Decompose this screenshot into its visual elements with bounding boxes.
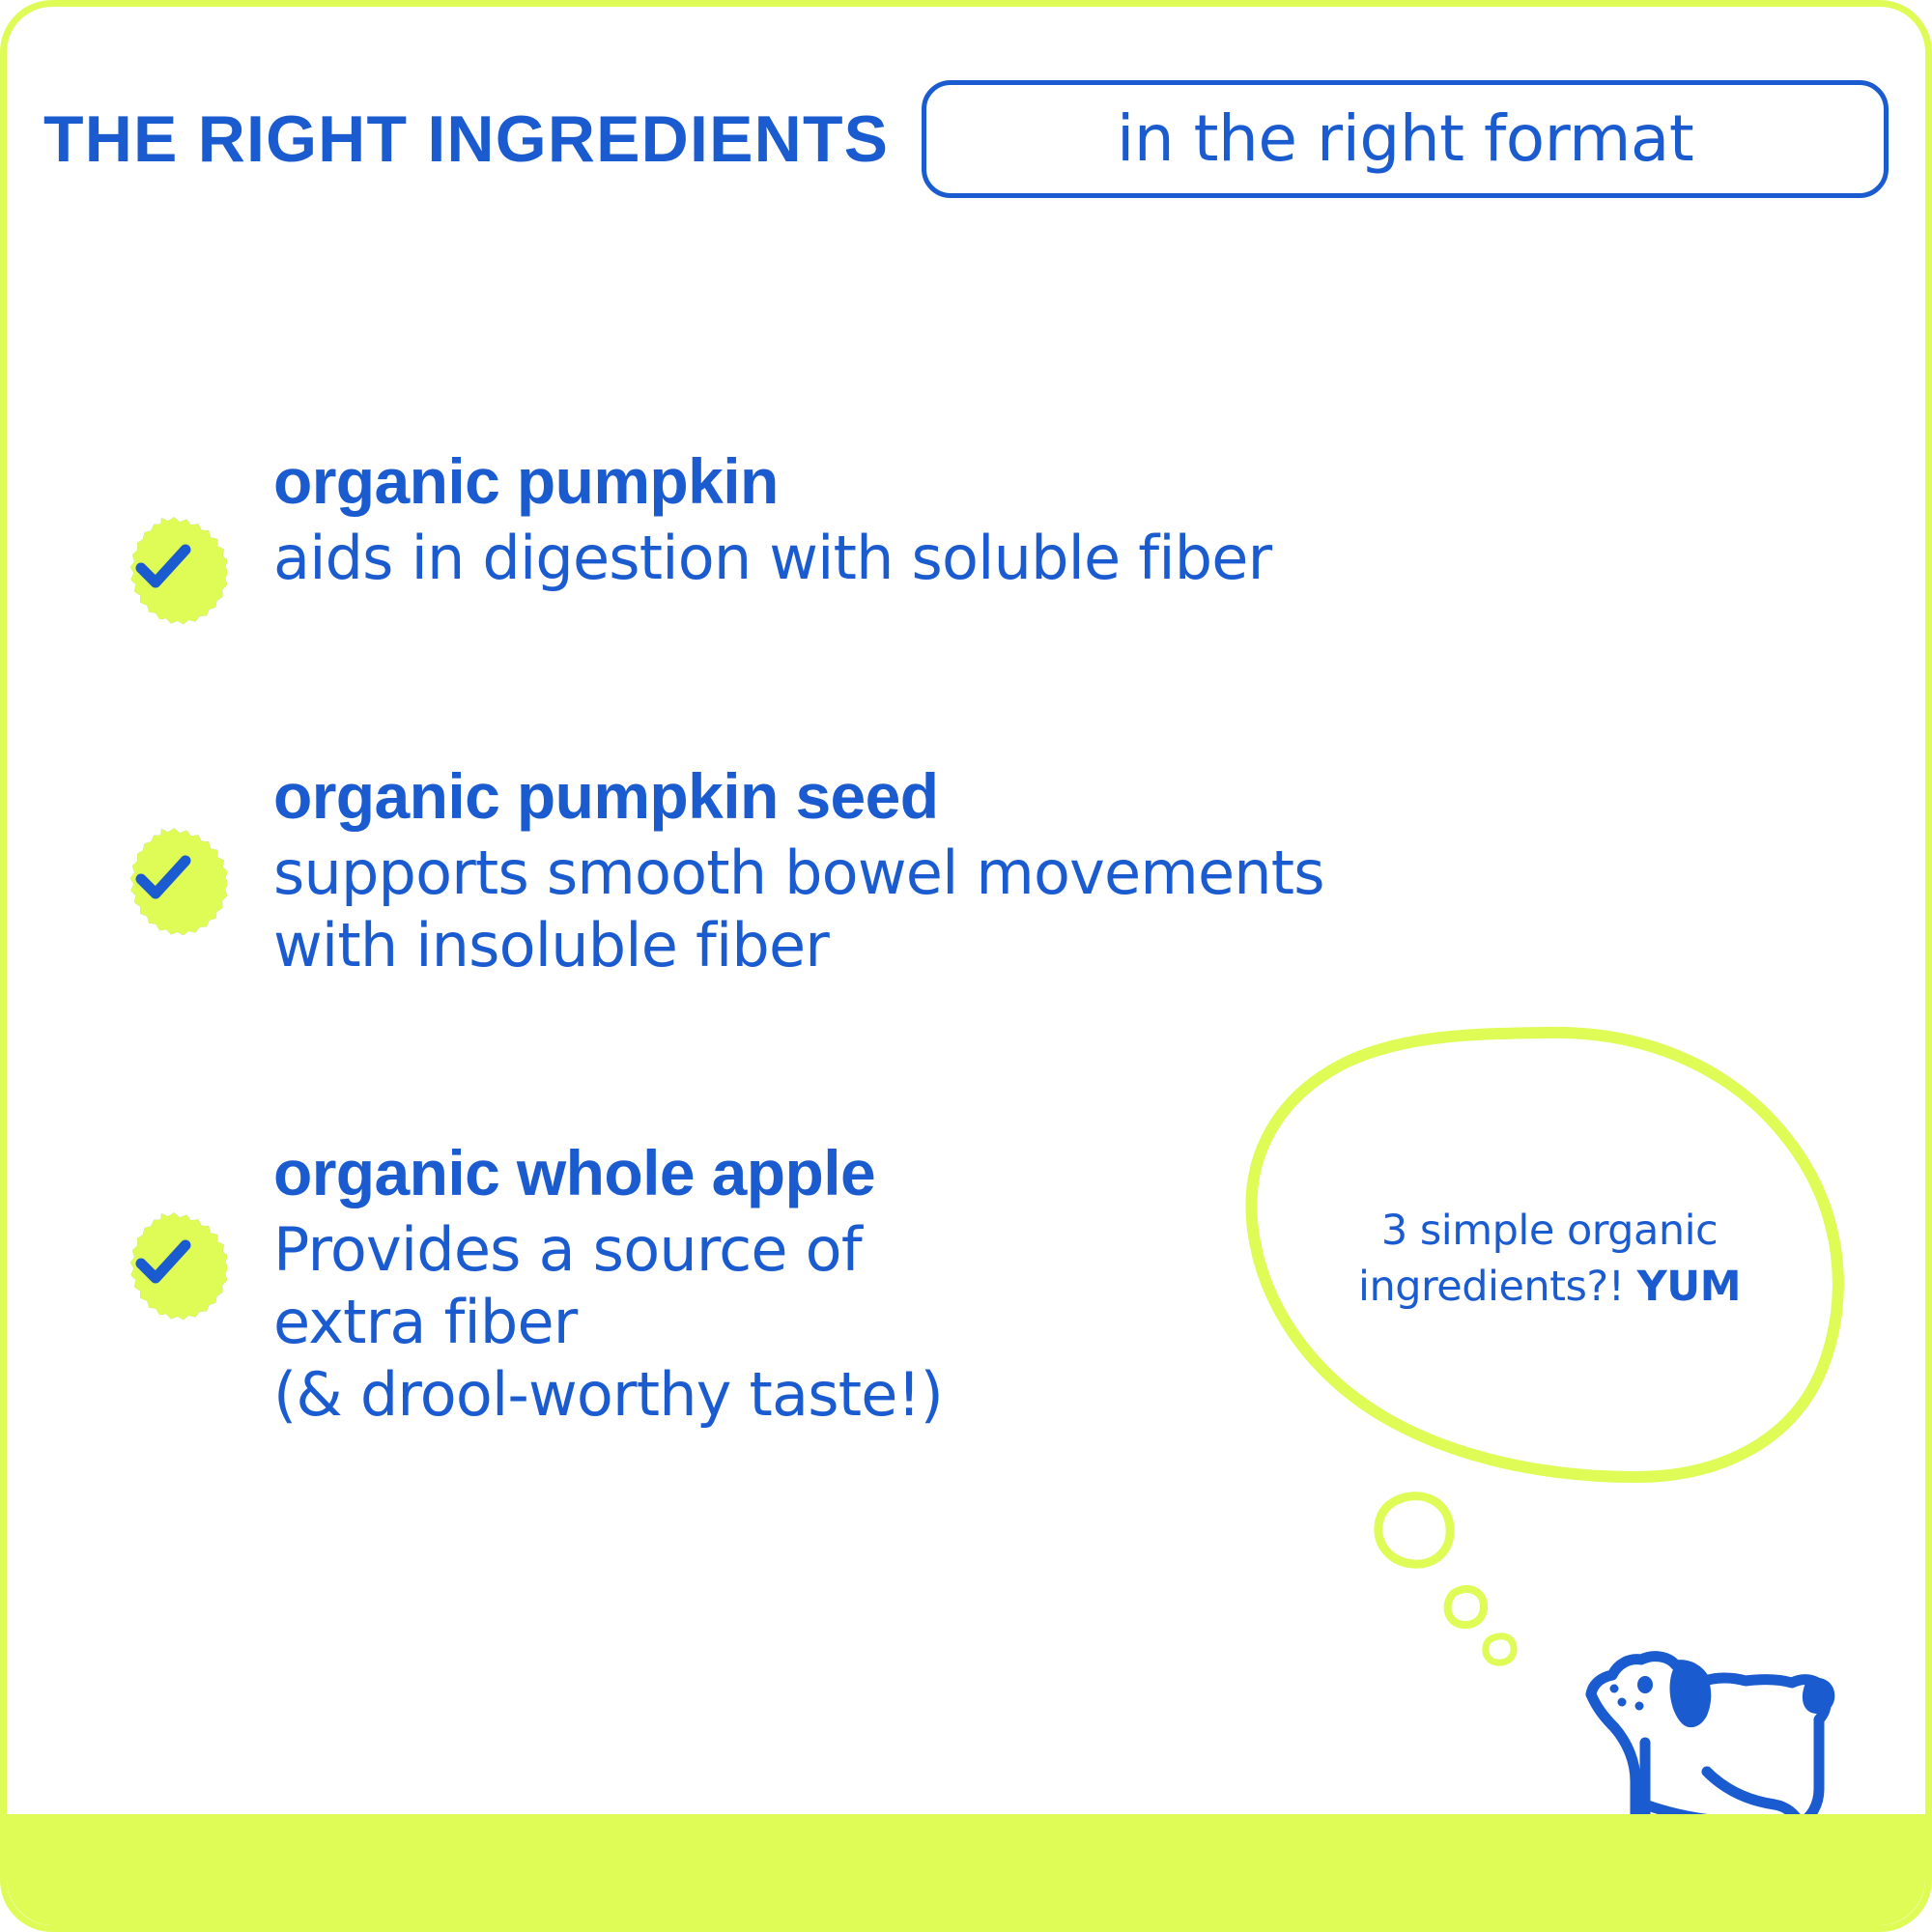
ingredient-name: organic pumpkin — [273, 446, 1271, 518]
format-pill: in the right format — [922, 80, 1889, 198]
check-badge-icon — [103, 506, 227, 630]
thought-line-1: 3 simple organic — [1381, 1207, 1718, 1255]
ingredient-name: organic pumpkin seed — [273, 761, 1324, 833]
ingredient-description: aids in digestion with soluble fiber — [273, 522, 1271, 594]
ingredient-text: organic pumpkin seed supports smooth bow… — [227, 761, 1324, 981]
ingredient-name: organic whole apple — [273, 1138, 943, 1209]
thought-line-2-normal: ingredients?! — [1358, 1263, 1637, 1311]
list-item: organic pumpkin seed supports smooth bow… — [103, 761, 1533, 981]
ingredient-text: organic pumpkin aids in digestion with s… — [227, 446, 1271, 594]
thought-line-2-bold: YUM — [1637, 1263, 1741, 1311]
page-title: THE RIGHT INGREDIENTS — [43, 106, 889, 172]
check-badge-icon — [103, 817, 227, 941]
card-header: THE RIGHT INGREDIENTS in the right forma… — [43, 78, 1889, 200]
lime-footer-bar — [7, 1814, 1925, 1925]
check-badge-icon — [103, 1202, 227, 1325]
format-pill-label: in the right format — [1117, 107, 1693, 171]
ingredient-description: supports smooth bowel movements with ins… — [273, 837, 1324, 981]
ingredients-card: THE RIGHT INGREDIENTS in the right forma… — [0, 0, 1932, 1932]
ingredient-description: Provides a source of extra fiber (& droo… — [273, 1213, 943, 1431]
list-item: organic pumpkin aids in digestion with s… — [103, 446, 1533, 630]
thought-bubble-text: 3 simple organic ingredients?! YUM — [1313, 1203, 1786, 1316]
ingredient-text: organic whole apple Provides a source of… — [227, 1138, 943, 1431]
